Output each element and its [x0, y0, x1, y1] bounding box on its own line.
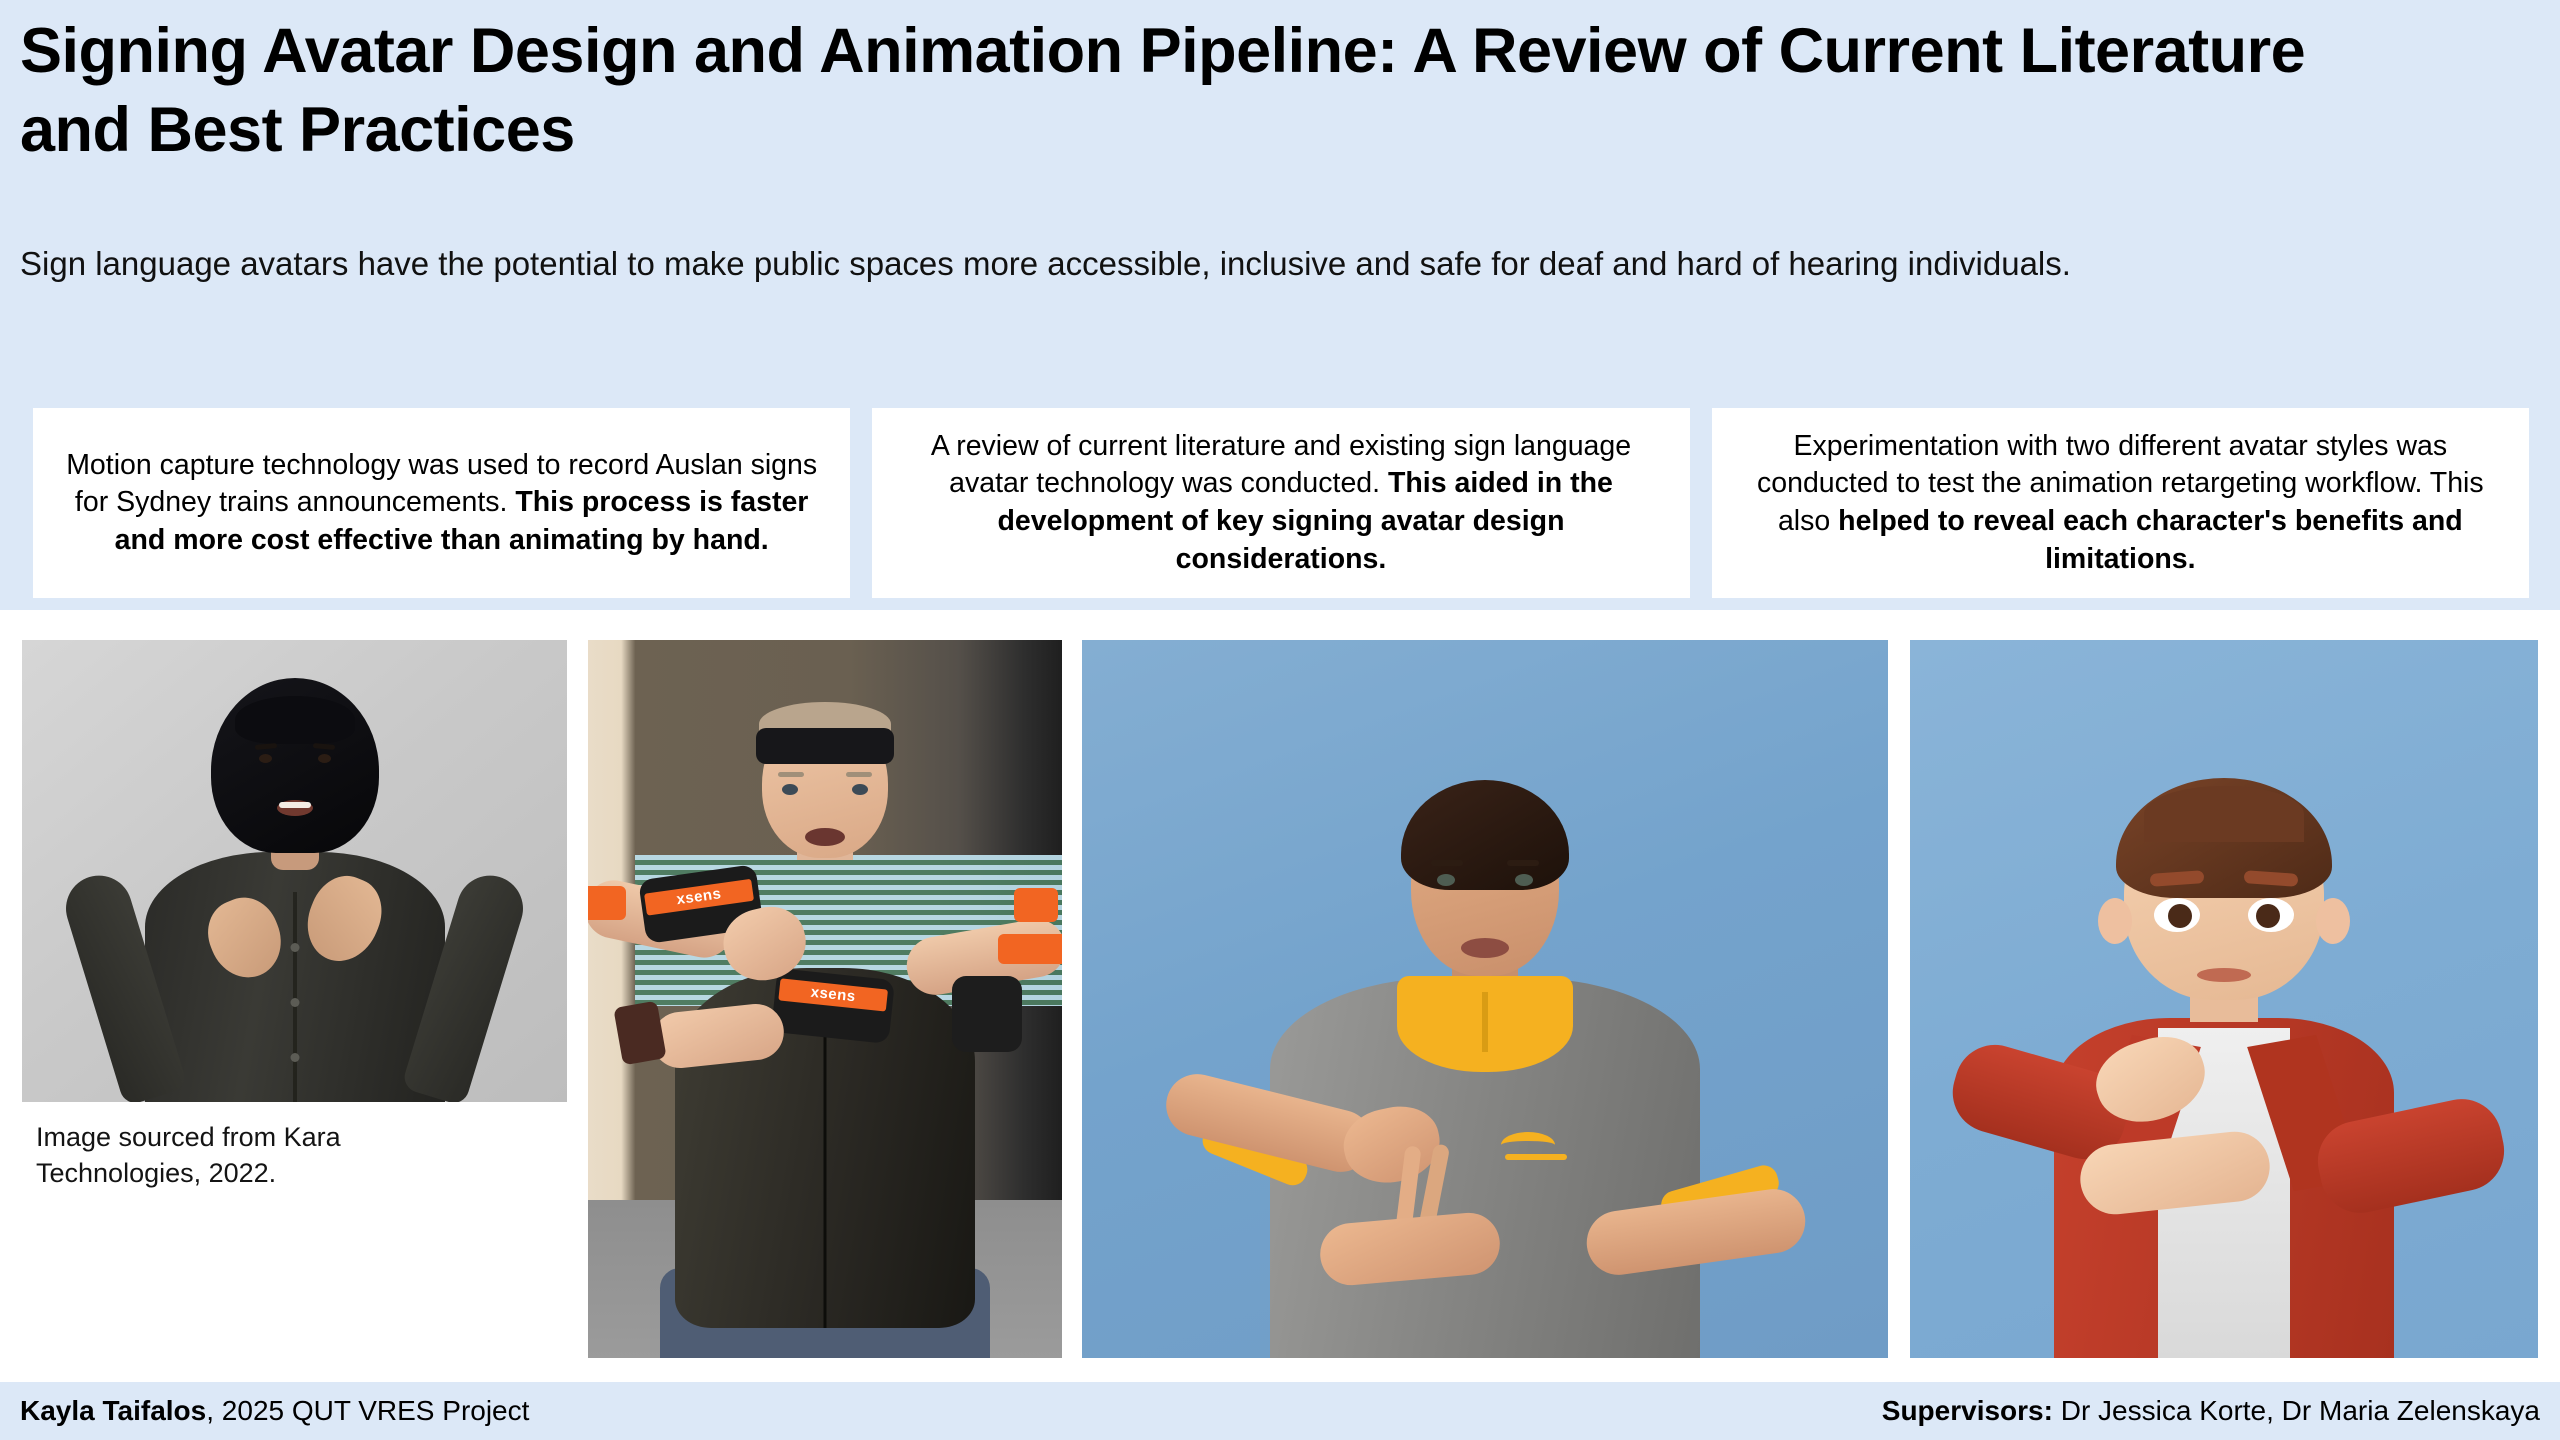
xsens-glove-right: xsens [771, 968, 895, 1044]
mocap-strap [588, 886, 626, 920]
callout-row: Motion capture technology was used to re… [33, 408, 2529, 598]
stylised-cartoon-avatar-image [1910, 640, 2538, 1358]
image-panel-motion-capture: xsens xsens [588, 640, 1062, 1358]
callout-text: Experimentation with two different avata… [1730, 428, 2511, 578]
page-subtitle: Sign language avatars have the potential… [20, 242, 2120, 286]
elbow-pad [952, 976, 1022, 1052]
footer-author-meta: , 2025 QUT VRES Project [206, 1395, 529, 1426]
callout-text: A review of current literature and exist… [890, 428, 1671, 578]
footer-band: Kayla Taifalos, 2025 QUT VRES Project Su… [0, 1382, 2560, 1440]
header-band: Signing Avatar Design and Animation Pipe… [0, 0, 2560, 610]
callout-card-literature-review: A review of current literature and exist… [872, 408, 1689, 598]
wristwatch [613, 1001, 666, 1066]
sydney-trains-logo [1501, 1132, 1581, 1166]
footer-author: Kayla Taifalos, 2025 QUT VRES Project [20, 1395, 529, 1427]
footer-supervisors: Supervisors: Dr Jessica Korte, Dr Maria … [1882, 1395, 2540, 1427]
footer-author-name: Kayla Taifalos [20, 1395, 206, 1426]
image-caption-kara: Image sourced from Kara Technologies, 20… [36, 1120, 366, 1191]
mocap-headband [756, 728, 894, 764]
xsens-brand-label: xsens [778, 978, 888, 1011]
motion-capture-performer-image: xsens xsens [588, 640, 1062, 1358]
footer-supervisors-label: Supervisors: [1882, 1395, 2053, 1426]
image-panel-kara-avatar: Image sourced from Kara Technologies, 20… [22, 640, 567, 1358]
image-panel-realistic-avatar [1082, 640, 1888, 1358]
image-strip: Image sourced from Kara Technologies, 20… [22, 640, 2538, 1358]
mocap-strap [1014, 888, 1058, 922]
callout-bold-text: helped to reveal each character's benefi… [1838, 505, 2463, 575]
xsens-brand-label: xsens [644, 879, 754, 916]
footer-supervisors-names: Dr Jessica Korte, Dr Maria Zelenskaya [2053, 1395, 2540, 1426]
callout-card-motion-capture: Motion capture technology was used to re… [33, 408, 850, 598]
callout-text: Motion capture technology was used to re… [51, 447, 832, 560]
mocap-strap [998, 934, 1062, 964]
realistic-avatar-image [1082, 640, 1888, 1358]
image-panel-stylised-avatar [1910, 640, 2538, 1358]
kara-technologies-avatar-image [22, 640, 567, 1102]
callout-card-avatar-experimentation: Experimentation with two different avata… [1712, 408, 2529, 598]
page-title: Signing Avatar Design and Animation Pipe… [20, 12, 2320, 170]
